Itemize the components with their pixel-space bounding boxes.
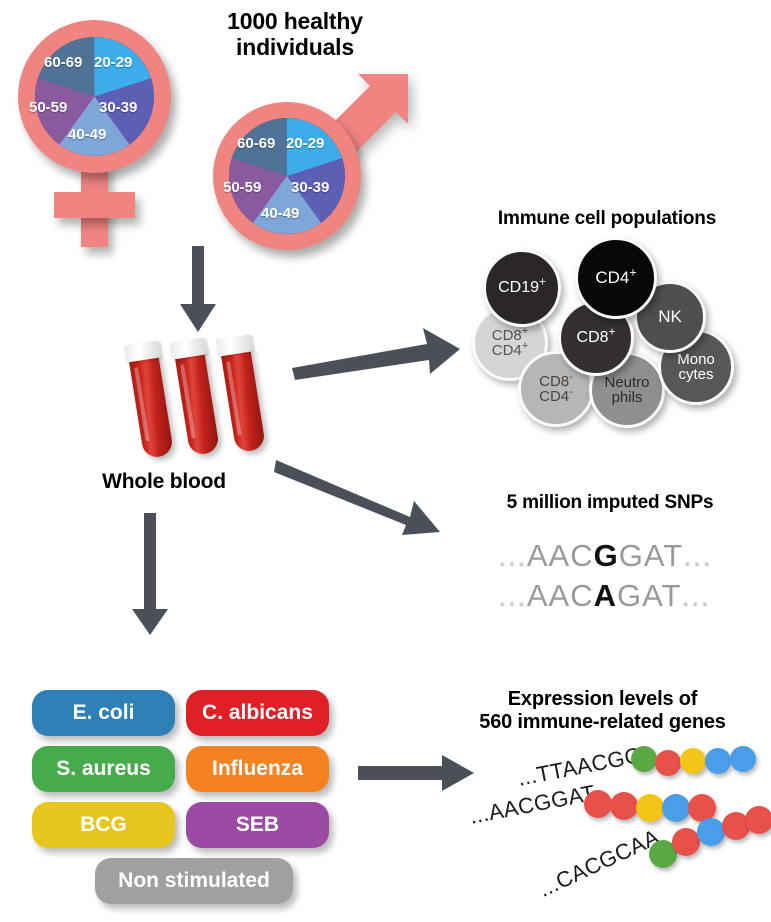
gene-bead [672, 828, 700, 856]
immune-cell-label: CD8-CD4- [539, 374, 573, 405]
immune-cell-populations-title: Immune cell populations [452, 208, 762, 230]
stimulus-seb[interactable]: SEB [186, 802, 329, 848]
gene-bead [631, 746, 657, 772]
whole-blood-label: Whole blood [64, 470, 264, 494]
gene-bead [610, 792, 638, 820]
gene-bead [680, 748, 706, 774]
immune-cell-cd4: CD4+ [575, 237, 657, 319]
snp-prefix: ... [498, 538, 527, 574]
whole-blood-tubes [118, 342, 293, 472]
blood-tube [174, 349, 220, 456]
gene-bead [705, 748, 731, 774]
pie-label-20-29: 20-29 [94, 54, 132, 71]
immune-cell-label: NK [658, 308, 682, 326]
immune-cell-label: CD19+ [498, 280, 546, 296]
stimulus-label: Influenza [212, 757, 303, 781]
immune-cell-label: CD4+ [595, 269, 636, 287]
arrow-stimuli-to-expression [358, 755, 478, 793]
snp-left: AAC [527, 538, 594, 574]
stimulus-bcg[interactable]: BCG [32, 802, 175, 848]
female-symbol: 20-29 30-39 40-49 50-59 60-69 [12, 14, 192, 249]
pie-label-40-49: 40-49 [261, 205, 299, 222]
male-symbol: 20-29 30-39 40-49 50-59 60-69 [200, 60, 420, 250]
snp-prefix: ... [498, 578, 527, 614]
snp-right: GAT [619, 538, 683, 574]
stimulus-label: BCG [80, 813, 127, 837]
snp-right: GAT [617, 578, 681, 614]
stimulus-e-coli[interactable]: E. coli [32, 690, 175, 736]
stimulus-influenza[interactable]: Influenza [186, 746, 329, 792]
cohort-heading-line1: 1000 healthy [170, 8, 420, 34]
expression-title-line1: Expression levels of [440, 688, 765, 711]
immune-cell-label: CD8+ [577, 330, 616, 346]
stimulus-label: E. coli [73, 701, 135, 725]
pie-label-60-69: 60-69 [237, 135, 275, 152]
pie-label-50-59: 50-59 [29, 99, 67, 116]
blood-tube [220, 346, 266, 453]
expression-title: Expression levels of 560 immune-related … [440, 688, 765, 734]
arrow-blood-to-immune-cells [290, 322, 462, 384]
snp-suffix: ... [681, 578, 710, 614]
pie-label-60-69: 60-69 [44, 54, 82, 71]
female-symbol-cross [54, 192, 135, 218]
cohort-heading-line2: individuals [170, 34, 420, 60]
snps-title: 5 million imputed SNPs [460, 492, 760, 514]
immune-cell-cd19: CD19+ [483, 249, 561, 327]
pie-label-30-39: 30-39 [99, 99, 137, 116]
arrow-individuals-to-blood [176, 246, 220, 336]
stimulus-non-stimulated[interactable]: Non stimulated [95, 858, 293, 904]
snp-highlight: G [594, 538, 619, 574]
gene-bead [636, 794, 664, 822]
pie-label-50-59: 50-59 [223, 179, 261, 196]
stimulus-label: Non stimulated [118, 869, 270, 893]
gene-strand-sequence: ...CACGCAA [535, 824, 664, 903]
stimulus-label: SEB [236, 813, 279, 837]
immune-cell-label: Neutrophils [604, 375, 649, 406]
gene-bead [745, 806, 771, 834]
blood-tube [128, 352, 174, 459]
gene-bead [730, 746, 756, 772]
stimulus-label: S. aureus [56, 757, 151, 781]
female-symbol-ring: 20-29 30-39 40-49 50-59 60-69 [18, 20, 171, 173]
stimulus-label: C. albicans [202, 701, 313, 725]
snp-sequence-row: ...AACAGAT... [498, 578, 710, 614]
pie-label-30-39: 30-39 [291, 179, 329, 196]
snp-left: AAC [527, 578, 594, 614]
immune-cell-label: Monocytes [677, 352, 715, 383]
pie-label-40-49: 40-49 [68, 126, 106, 143]
snp-suffix: ... [683, 538, 712, 574]
stimulus-s-aureus[interactable]: S. aureus [32, 746, 175, 792]
gene-bead [662, 794, 690, 822]
snp-sequence-row: ...AACGGAT... [498, 538, 712, 574]
gene-bead [697, 818, 725, 846]
snp-highlight: A [594, 578, 617, 614]
gene-bead [655, 750, 681, 776]
arrow-blood-to-stimuli [128, 513, 172, 638]
stimulus-c-albicans[interactable]: C. albicans [186, 690, 329, 736]
immune-cell-label: CD8+CD4+ [492, 328, 529, 359]
figure-canvas: 1000 healthy individuals 20-29 30-39 40-… [0, 0, 771, 922]
expression-title-line2: 560 immune-related genes [440, 711, 765, 734]
pie-label-20-29: 20-29 [286, 135, 324, 152]
gene-bead [584, 790, 612, 818]
male-symbol-ring: 20-29 30-39 40-49 50-59 60-69 [213, 102, 361, 250]
cohort-heading: 1000 healthy individuals [170, 8, 420, 60]
arrow-blood-to-snps [274, 452, 444, 540]
